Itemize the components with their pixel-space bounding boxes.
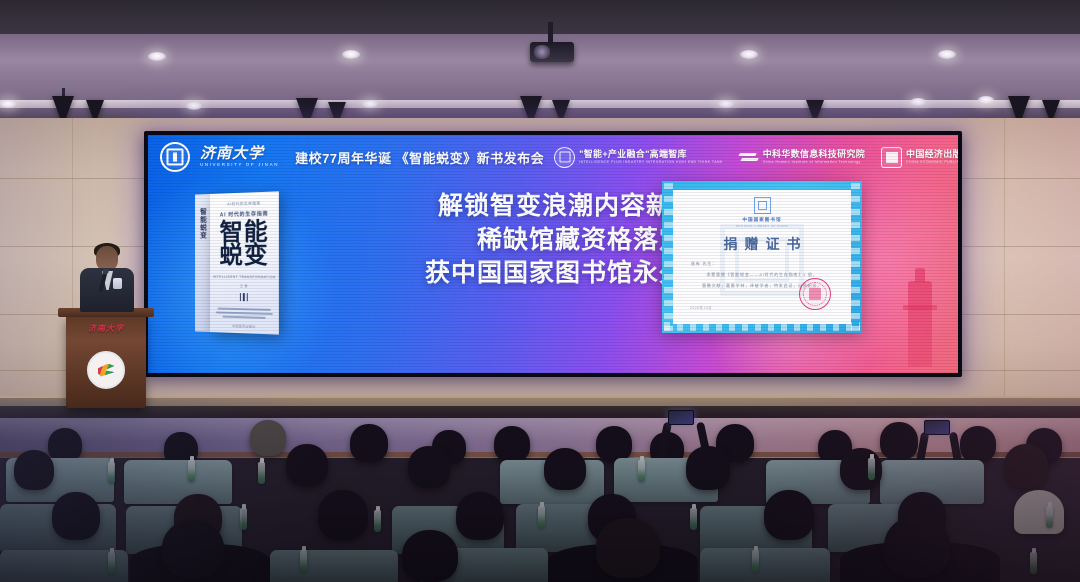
water-bottle	[1046, 506, 1053, 528]
presenter-at-podium	[80, 246, 134, 310]
uoj-colored-emblem-icon	[87, 351, 125, 389]
downlight-icon	[718, 100, 734, 108]
audience-head	[764, 490, 814, 540]
water-bottle	[538, 506, 545, 528]
audience-head	[544, 448, 586, 490]
downlight-icon	[148, 52, 166, 61]
audience-head	[494, 426, 530, 462]
audience-head	[1004, 444, 1048, 488]
audience-head	[408, 446, 450, 488]
podium: 济南大学	[58, 308, 154, 408]
audience-area	[0, 398, 1080, 582]
downlight-icon	[362, 100, 378, 108]
downlight-icon	[186, 102, 202, 110]
audience-head	[286, 444, 328, 486]
water-bottle	[108, 552, 115, 574]
led-scanline-overlay	[148, 135, 958, 373]
audience-head	[596, 518, 660, 578]
audience-head	[250, 420, 286, 456]
audience-head	[596, 426, 632, 462]
audience-head	[686, 446, 730, 490]
podium-face: 济南大学	[66, 317, 146, 408]
downlight-icon	[0, 100, 16, 108]
audience-head	[48, 428, 82, 462]
audience-head	[960, 426, 996, 462]
seat	[124, 460, 232, 504]
audience-head	[350, 424, 388, 462]
water-bottle	[258, 462, 265, 484]
audience-head	[162, 520, 224, 578]
audience-head	[456, 492, 504, 540]
water-bottle	[188, 460, 195, 482]
ceiling-projector-icon	[530, 42, 574, 62]
led-screen-content: 济南大学 UNIVERSITY OF JINAN 建校77周年华诞 《智能蜕变》…	[148, 135, 958, 373]
water-bottle	[868, 458, 875, 480]
water-bottle	[690, 508, 697, 530]
audience-head	[318, 490, 368, 540]
audience-head	[884, 516, 950, 578]
downlight-icon	[740, 50, 758, 59]
ceiling-dark-band	[0, 0, 1080, 34]
downlight-icon	[978, 96, 994, 104]
downlight-icon	[910, 98, 926, 106]
water-bottle	[638, 460, 645, 482]
presenter-badge	[113, 278, 122, 289]
seat	[700, 548, 830, 582]
ceiling	[0, 0, 1080, 118]
downlight-icon	[342, 50, 360, 59]
smartphone-recording-icon	[924, 420, 950, 435]
seat	[270, 550, 398, 582]
smartphone-recording-icon	[668, 410, 694, 425]
audience-head-with-cap	[1014, 490, 1064, 534]
wall-seam	[1004, 118, 1005, 408]
podium-university-text: 济南大学	[88, 323, 124, 334]
water-bottle	[300, 550, 307, 572]
led-screen: 济南大学 UNIVERSITY OF JINAN 建校77周年华诞 《智能蜕变》…	[144, 131, 962, 377]
water-bottle	[1030, 552, 1037, 574]
water-bottle	[240, 508, 247, 530]
water-bottle	[374, 510, 381, 532]
water-bottle	[108, 462, 115, 484]
water-bottle	[752, 550, 759, 572]
conference-hall-photo: 济南大学 UNIVERSITY OF JINAN 建校77周年华诞 《智能蜕变》…	[0, 0, 1080, 582]
downlight-icon	[938, 50, 956, 59]
audience-head	[840, 448, 882, 490]
audience-head	[14, 450, 54, 490]
audience-head	[880, 422, 918, 460]
audience-head	[52, 492, 100, 540]
projector-lens-icon	[534, 45, 550, 59]
audience-head	[402, 530, 458, 582]
